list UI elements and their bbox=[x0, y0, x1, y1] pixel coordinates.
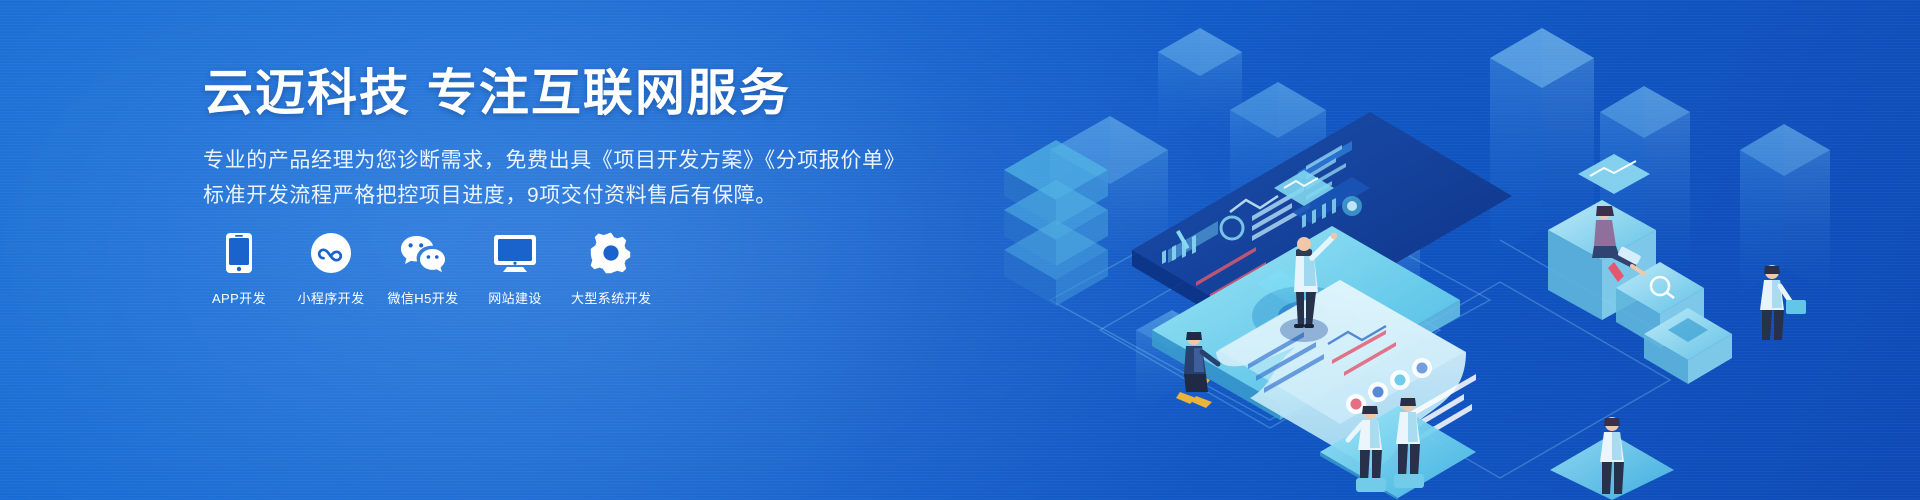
service-label: 网站建设 bbox=[488, 288, 542, 307]
isometric-technology-illustration bbox=[900, 0, 1920, 500]
service-label: APP开发 bbox=[212, 288, 266, 307]
hero-banner: 云迈科技 专注互联网服务 专业的产品经理为您诊断需求，免费出具《项目开发方案》《… bbox=[0, 0, 1920, 500]
hero-description-line-1: 专业的产品经理为您诊断需求，免费出具《项目开发方案》《分项报价单》 bbox=[203, 143, 903, 178]
service-label: 大型系统开发 bbox=[571, 288, 651, 307]
service-item-large-system[interactable]: 大型系统开发 bbox=[571, 228, 651, 307]
service-label: 小程序开发 bbox=[297, 288, 364, 307]
service-item-app[interactable]: APP开发 bbox=[203, 228, 275, 307]
pedestal-group-right bbox=[1548, 200, 1732, 384]
page-title: 云迈科技 专注互联网服务 bbox=[203, 66, 903, 121]
service-item-wechat-h5[interactable]: 微信H5开发 bbox=[387, 228, 459, 307]
service-list: APP开发 小程序开发 微信 bbox=[203, 228, 651, 307]
server-stack-icon bbox=[1004, 140, 1108, 306]
hero-copy: 云迈科技 专注互联网服务 专业的产品经理为您诊断需求，免费出具《项目开发方案》《… bbox=[203, 66, 903, 213]
wechat-icon bbox=[399, 228, 447, 274]
gear-icon bbox=[590, 228, 632, 274]
mini-program-icon bbox=[310, 228, 352, 274]
monitor-icon bbox=[493, 228, 537, 274]
hero-description-line-2: 标准开发流程严格把控项目进度，9项交付资料售后有保障。 bbox=[203, 178, 903, 213]
service-item-website[interactable]: 网站建设 bbox=[479, 228, 551, 307]
hero-description: 专业的产品经理为您诊断需求，免费出具《项目开发方案》《分项报价单》 标准开发流程… bbox=[203, 143, 903, 213]
service-label: 微信H5开发 bbox=[387, 288, 458, 307]
service-item-mini-program[interactable]: 小程序开发 bbox=[295, 228, 367, 307]
mobile-phone-icon bbox=[225, 228, 253, 274]
